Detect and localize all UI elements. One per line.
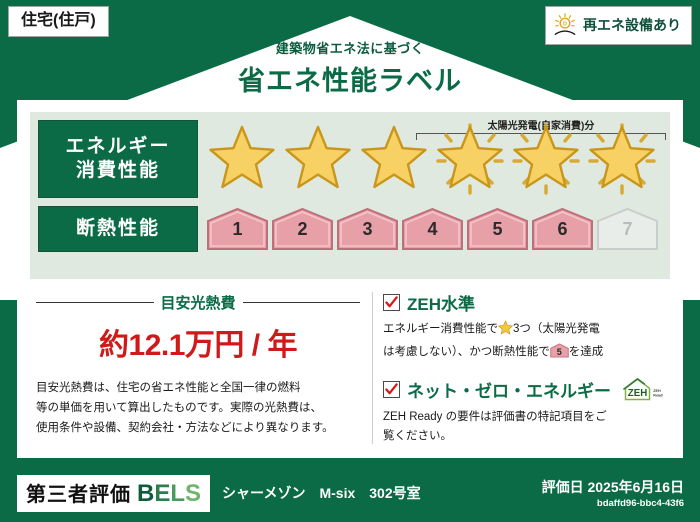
zeh-standard-body-d: を達成 xyxy=(569,346,604,358)
zeh-standard-checkbox xyxy=(383,294,400,311)
insulation-level-value: 1 xyxy=(206,219,269,240)
utility-cost-note-line3: 使用条件や設備、契約会社・方法などにより異なります。 xyxy=(36,419,360,439)
insulation-level-3-active: 3 xyxy=(336,207,399,251)
star-filled-1 xyxy=(206,123,278,195)
inline-star-icon xyxy=(498,320,513,343)
zeh-standard-body-c: は考慮しない）、かつ断熱性能で xyxy=(383,346,550,358)
insulation-label-text: 断熱性能 xyxy=(76,217,160,241)
zeh-standard-title: ZEH水準 xyxy=(407,290,475,315)
energy-label-line2: 消費性能 xyxy=(76,159,160,183)
bels-letter-l: L xyxy=(170,480,185,507)
zeh-standard-block: ZEH水準 エネルギー消費性能で 3つ（太陽光発電 は考慮しない）、かつ断熱性能… xyxy=(383,290,668,363)
insulation-level-value: 3 xyxy=(336,219,399,240)
label-title-block: 建築物省エネ法に基づく 省エネ性能ラベル xyxy=(0,38,700,98)
zeh-standard-body: エネルギー消費性能で 3つ（太陽光発電 は考慮しない）、かつ断熱性能で 5 を達… xyxy=(383,320,668,363)
net-zero-energy-block: ネット・ゼロ・エネルギー ZEH ZEH Ready Z xyxy=(383,377,668,448)
details-columns: 目安光熱費 約12.1万円 / 年 目安光熱費は、住宅の省エネ性能と全国一律の燃… xyxy=(30,290,670,450)
zeh-standard-body-a: エネルギー消費性能で xyxy=(383,323,498,335)
zeh-ready-logo: ZEH ZEH Ready xyxy=(621,377,663,403)
utility-cost-heading-label: 目安光熱費 xyxy=(161,292,236,313)
bels-letter-e: E xyxy=(154,480,170,507)
insulation-level-scale: 1234567 xyxy=(198,206,662,252)
net-zero-body-line2: 覧ください。 xyxy=(383,427,668,447)
page-title: 省エネ性能ラベル xyxy=(0,59,700,98)
renewable-badge-label: 再エネ設備あり xyxy=(583,17,681,33)
insulation-level-4-active: 4 xyxy=(401,207,464,251)
energy-performance-label: エネルギー 消費性能 xyxy=(38,120,198,198)
label-content-card: エネルギー 消費性能 太陽光発電(自家消費)分 断熱性能 1234567 xyxy=(17,100,683,458)
insulation-level-value: 4 xyxy=(401,219,464,240)
insulation-performance-row: 断熱性能 1234567 xyxy=(38,206,662,252)
bels-letter-s: S xyxy=(185,480,201,507)
energy-stars-area: 太陽光発電(自家消費)分 xyxy=(198,120,662,198)
insulation-level-5-active: 5 xyxy=(466,207,529,251)
property-name: シャーメゾン M-six 302号室 xyxy=(222,483,421,503)
building-type-tag: 住宅(住戸) xyxy=(8,6,109,37)
star-filled-2 xyxy=(282,123,354,195)
insulation-level-6-active: 6 xyxy=(531,207,594,251)
bels-logo-box: 第三者評価 BELS xyxy=(17,475,210,512)
star-solar-5 xyxy=(510,123,582,195)
third-party-label: 第三者評価 xyxy=(26,478,131,507)
insulation-levels-area: 1234567 xyxy=(198,206,662,252)
energy-performance-row: エネルギー 消費性能 太陽光発電(自家消費)分 xyxy=(38,120,662,198)
building-type-label: 住宅(住戸) xyxy=(21,12,96,29)
zeh-column: ZEH水準 エネルギー消費性能で 3つ（太陽光発電 は考慮しない）、かつ断熱性能… xyxy=(383,290,670,450)
insulation-level-1-active: 1 xyxy=(206,207,269,251)
net-zero-title-row: ネット・ゼロ・エネルギー ZEH ZEH Ready xyxy=(383,377,668,403)
column-divider xyxy=(372,292,373,444)
inline-house-level-icon: 5 xyxy=(550,343,569,358)
insulation-level-2-active: 2 xyxy=(271,207,334,251)
insulation-level-7-inactive: 7 xyxy=(596,207,659,251)
inline-house-level-value: 5 xyxy=(550,345,569,358)
utility-cost-note-line2: 等の単価を用いて算出したものです。実際の光熱費は、 xyxy=(36,399,360,419)
evaluation-uid: bdaffd96-bbc4-43f6 xyxy=(542,498,684,509)
bels-letter-b: B xyxy=(137,480,154,507)
utility-cost-heading: 目安光熱費 xyxy=(36,292,360,313)
zeh-standard-body-b: 3つ（太陽光発電 xyxy=(513,323,600,335)
heading-rule-left xyxy=(36,302,154,303)
evaluation-date: 評価日 2025年6月16日 xyxy=(542,477,684,497)
insulation-performance-label: 断熱性能 xyxy=(38,206,198,252)
utility-cost-value: 約12.1万円 / 年 xyxy=(36,320,360,364)
star-solar-6 xyxy=(586,123,658,195)
utility-cost-note: 目安光熱費は、住宅の省エネ性能と全国一律の燃料 等の単価を用いて算出したものです… xyxy=(36,379,360,438)
svg-text:D: D xyxy=(563,22,567,28)
star-filled-3 xyxy=(358,123,430,195)
net-zero-body-line1: ZEH Ready の要件は評価書の特記項目をご xyxy=(383,408,668,428)
performance-band: エネルギー 消費性能 太陽光発電(自家消費)分 断熱性能 1234567 xyxy=(30,112,670,279)
checkmark-icon xyxy=(385,296,398,309)
solar-sun-icon: D xyxy=(552,12,578,38)
svg-text:ZEH: ZEH xyxy=(653,389,661,393)
insulation-level-value: 6 xyxy=(531,219,594,240)
checkmark-icon xyxy=(385,383,398,396)
energy-star-rating xyxy=(198,120,662,198)
heading-rule-right xyxy=(243,302,361,303)
net-zero-title: ネット・ゼロ・エネルギー xyxy=(407,377,611,402)
utility-cost-note-line1: 目安光熱費は、住宅の省エネ性能と全国一律の燃料 xyxy=(36,379,360,399)
evaluation-info: 評価日 2025年6月16日 bdaffd96-bbc4-43f6 xyxy=(542,477,684,509)
insulation-level-value: 7 xyxy=(596,219,659,240)
utility-cost-column: 目安光熱費 約12.1万円 / 年 目安光熱費は、住宅の省エネ性能と全国一律の燃… xyxy=(30,290,368,450)
net-zero-body: ZEH Ready の要件は評価書の特記項目をご 覧ください。 xyxy=(383,408,668,448)
energy-label-line1: エネルギー xyxy=(65,135,170,159)
title-subtitle: 建築物省エネ法に基づく xyxy=(0,38,700,57)
energy-performance-label: 住宅(住戸) D 再エネ設備あり 建築物省エネ法に基づく 省エネ性能ラベル xyxy=(0,0,700,522)
svg-text:ZEH: ZEH xyxy=(628,387,648,398)
label-footer: 第三者評価 BELS シャーメゾン M-six 302号室 評価日 2025年6… xyxy=(0,464,700,522)
insulation-level-value: 2 xyxy=(271,219,334,240)
star-solar-4 xyxy=(434,123,506,195)
svg-text:Ready: Ready xyxy=(653,393,663,397)
net-zero-checkbox xyxy=(383,381,400,398)
insulation-level-value: 5 xyxy=(466,219,529,240)
bels-wordmark: BELS xyxy=(137,480,201,508)
zeh-standard-title-row: ZEH水準 xyxy=(383,290,668,315)
